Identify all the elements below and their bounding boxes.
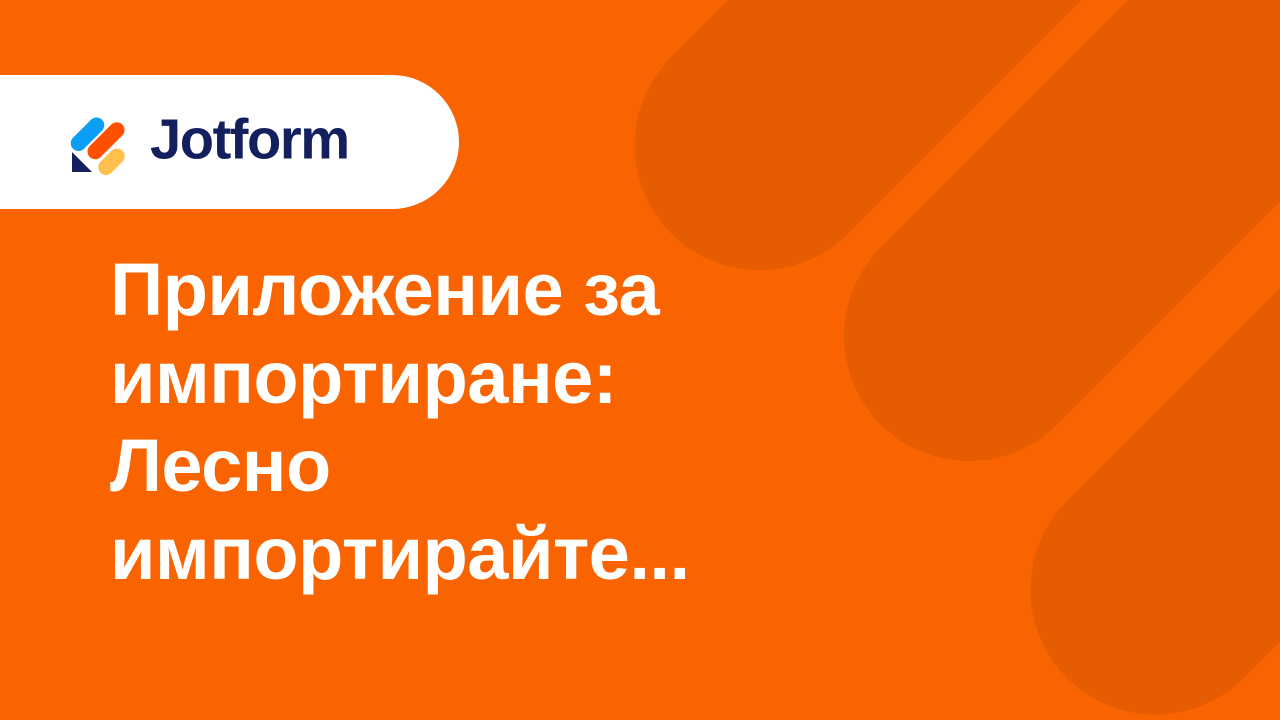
promo-banner: Jotform Приложение за импортиране: Лесно… bbox=[0, 0, 1280, 720]
brand-logo-pill: Jotform bbox=[0, 75, 459, 209]
jotform-logo-mark-icon bbox=[66, 108, 134, 176]
jotform-logo-lockup: Jotform bbox=[66, 108, 394, 176]
jotform-wordmark: Jotform bbox=[150, 112, 394, 172]
diagonal-capsule-bottom bbox=[979, 194, 1280, 720]
headline-text: Приложение за импортиране: Лесно импорти… bbox=[110, 246, 710, 598]
jotform-wordmark-text: Jotform bbox=[150, 112, 349, 170]
diagonal-capsule-middle bbox=[792, 0, 1280, 513]
